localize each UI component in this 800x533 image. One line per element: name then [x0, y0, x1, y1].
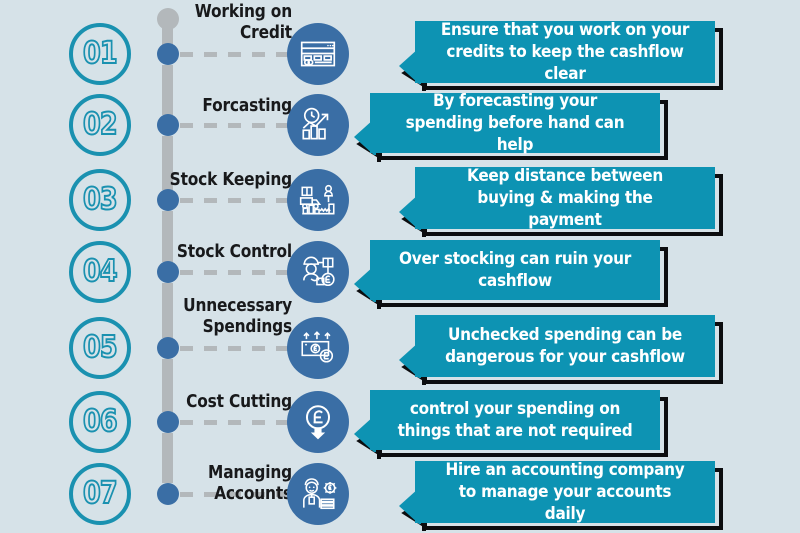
callout-box: control your spending on things that are… — [370, 390, 670, 460]
step-label: Managing Accounts — [169, 463, 292, 505]
dashed-connector — [180, 52, 288, 57]
callout-fill: Ensure that you work on your credits to … — [415, 21, 715, 83]
callout-fill: Over stocking can ruin your cashflow — [370, 240, 660, 300]
step-number-label: 02 — [83, 110, 117, 140]
callout-text: Over stocking can ruin your cashflow — [395, 248, 634, 292]
step-number-circle-04[interactable]: 04 — [69, 241, 131, 303]
callout-box: Ensure that you work on your credits to … — [415, 21, 725, 93]
dashed-connector — [180, 270, 288, 275]
credit-card-icon[interactable] — [287, 23, 349, 85]
callout-notch-fill — [350, 416, 376, 452]
callout-text: control your spending on things that are… — [395, 398, 634, 442]
timeline-segment — [162, 19, 173, 45]
step-label: Stock Keeping — [169, 170, 292, 191]
callout-box: Keep distance between buying & making th… — [415, 167, 725, 239]
step-number-circle-07[interactable]: 07 — [69, 463, 131, 525]
step-number-label: 06 — [83, 407, 117, 437]
growth-chart-clock-icon[interactable] — [287, 94, 349, 156]
callout-box: Unchecked spending can be dangerous for … — [415, 315, 725, 387]
callout-box: By forecasting your spending before hand… — [370, 93, 670, 163]
callout-notch-fill — [395, 48, 421, 84]
step-label: Working on Credit — [178, 2, 292, 44]
timeline-node-dot[interactable] — [157, 43, 179, 65]
step-number-circle-02[interactable]: 02 — [69, 94, 131, 156]
timeline-node-dot[interactable] — [157, 261, 179, 283]
timeline-node-dot[interactable] — [157, 114, 179, 136]
step-number-label: 01 — [83, 39, 117, 69]
step-label: Forcasting — [178, 96, 292, 117]
callout-notch-fill — [350, 119, 376, 155]
callout-text: By forecasting your spending before hand… — [395, 90, 634, 156]
step-number-label: 03 — [83, 185, 117, 215]
timeline-node-dot[interactable] — [157, 411, 179, 433]
dashed-connector — [180, 198, 288, 203]
dashed-connector — [180, 123, 288, 128]
step-number-circle-06[interactable]: 06 — [69, 391, 131, 453]
step-number-label: 07 — [83, 479, 117, 509]
callout-notch-fill — [395, 342, 421, 378]
infographic-canvas: 01Working on CreditEnsure that you work … — [0, 0, 800, 533]
warehouse-truck-icon[interactable] — [287, 169, 349, 231]
callout-text: Ensure that you work on your credits to … — [441, 19, 689, 85]
callout-text: Unchecked spending can be dangerous for … — [441, 324, 689, 368]
callout-box: Over stocking can ruin your cashflow — [370, 240, 670, 310]
step-label: Unnecessary Spendings — [169, 296, 292, 338]
step-number-label: 04 — [83, 257, 117, 287]
callout-notch-fill — [350, 266, 376, 302]
timeline-segment — [162, 65, 173, 115]
pound-down-arrow-icon[interactable] — [287, 391, 349, 453]
step-label: Stock Control — [169, 242, 292, 263]
callout-fill: Keep distance between buying & making th… — [415, 167, 715, 229]
callout-box: Hire an accounting company to manage you… — [415, 461, 725, 533]
step-number-circle-05[interactable]: 05 — [69, 317, 131, 379]
timeline-node-dot[interactable] — [157, 337, 179, 359]
callout-fill: Hire an accounting company to manage you… — [415, 461, 715, 523]
step-number-circle-03[interactable]: 03 — [69, 169, 131, 231]
timeline-node-dot[interactable] — [157, 189, 179, 211]
callout-text: Keep distance between buying & making th… — [441, 165, 689, 231]
step-number-label: 05 — [83, 333, 117, 363]
step-number-circle-01[interactable]: 01 — [69, 23, 131, 85]
callout-fill: By forecasting your spending before hand… — [370, 93, 660, 153]
callout-notch-fill — [395, 194, 421, 230]
callout-fill: control your spending on things that are… — [370, 390, 660, 450]
callout-text: Hire an accounting company to manage you… — [441, 459, 689, 525]
callout-notch-fill — [395, 488, 421, 524]
callout-fill: Unchecked spending can be dangerous for … — [415, 315, 715, 377]
banknote-rising-arrows-icon[interactable] — [287, 317, 349, 379]
worker-inventory-pound-icon[interactable] — [287, 241, 349, 303]
step-label: Cost Cutting — [169, 392, 292, 413]
dashed-connector — [180, 420, 288, 425]
dashed-connector — [180, 346, 288, 351]
accountant-gear-icon[interactable] — [287, 463, 349, 525]
